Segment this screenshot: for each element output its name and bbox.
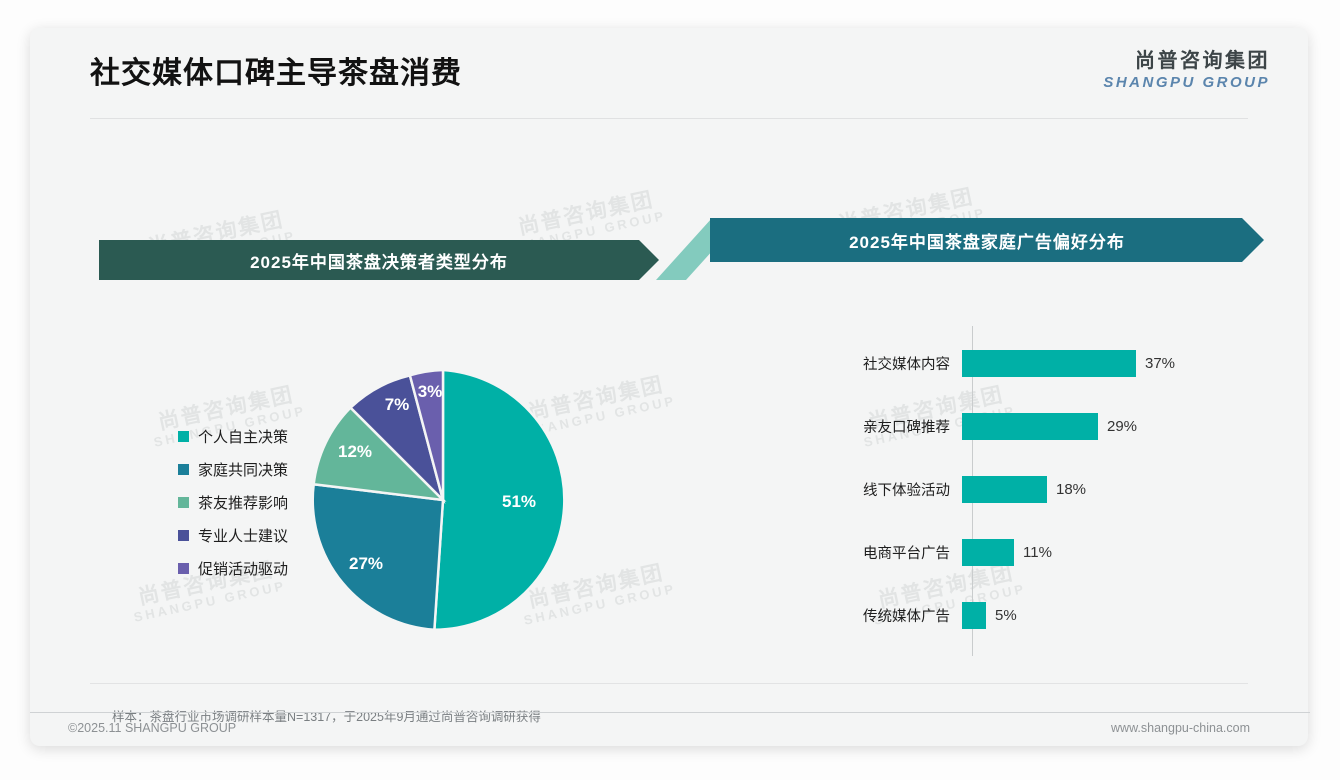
chart-banners: 2025年中国茶盘决策者类型分布 2025年中国茶盘家庭广告偏好分布 <box>30 28 1308 746</box>
logo-text-cn: 尚普咨询集团 <box>1103 44 1270 73</box>
slide-stage: 尚普咨询集团 SHANGPU GROUP 尚普咨询集团 SHANGPU GROU… <box>0 0 1340 780</box>
brand-logo: 尚普咨询集团 SHANGPU GROUP <box>1103 44 1270 91</box>
slide-footer: ©2025.11 SHANGPU GROUP www.shangpu-china… <box>0 716 1340 756</box>
banner-right: 2025年中国茶盘家庭广告偏好分布 <box>710 218 1264 262</box>
page-title: 社交媒体口碑主导茶盘消费 <box>90 48 462 92</box>
banner-right-label: 2025年中国茶盘家庭广告偏好分布 <box>849 228 1125 253</box>
header-divider <box>90 118 1248 119</box>
footer-copyright: ©2025.11 SHANGPU GROUP <box>68 721 236 735</box>
slide-header: 社交媒体口碑主导茶盘消费 尚普咨询集团 SHANGPU GROUP <box>30 28 1308 112</box>
banner-left-label: 2025年中国茶盘决策者类型分布 <box>250 248 508 273</box>
footer-divider <box>30 712 1310 713</box>
banner-left: 2025年中国茶盘决策者类型分布 <box>99 240 659 280</box>
footer-website[interactable]: www.shangpu-china.com <box>1111 721 1250 735</box>
logo-text-en: SHANGPU GROUP <box>1103 74 1270 91</box>
footnote-divider <box>90 683 1248 684</box>
slide-card: 尚普咨询集团 SHANGPU GROUP 尚普咨询集团 SHANGPU GROU… <box>30 28 1308 746</box>
